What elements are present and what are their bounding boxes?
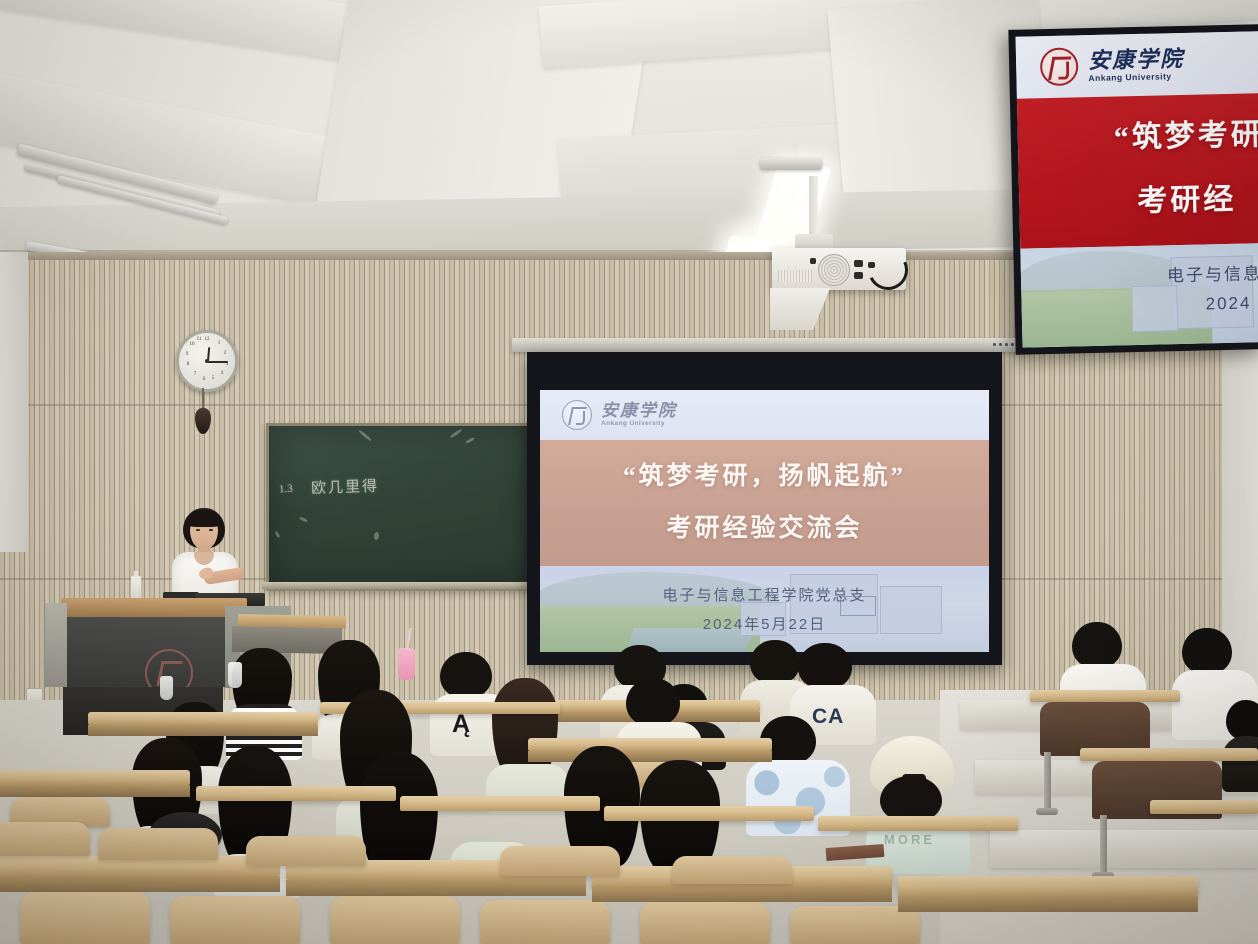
presentation-slide: 安康学院 Ankang University “筑梦考研，扬帆起航” 考研经验交…	[540, 390, 989, 652]
lecture-hall-photo: 12 1 2 3 4 5 6 7 8 9 10 11 1.3 欧几里得	[0, 0, 1258, 944]
person-head	[798, 643, 852, 689]
clock-numeral: 3	[222, 362, 232, 367]
projection-screen: 安康学院 Ankang University “筑梦考研，扬帆起航” 考研经验交…	[527, 352, 1002, 665]
tv-slide-title-line1: “筑梦考研	[1113, 107, 1258, 157]
blackboard: 1.3 欧几里得	[266, 423, 543, 591]
projector-fan-grille	[818, 254, 850, 286]
slide-footer-photo	[540, 566, 989, 652]
clock-minute-hand	[207, 361, 228, 363]
person-head	[1226, 700, 1258, 740]
chair-back	[500, 846, 620, 876]
person-hair	[360, 752, 438, 876]
clock-numeral: 8	[183, 362, 193, 367]
tv-slide-header: 安康学院 Ankang University	[1016, 31, 1258, 99]
tv-slide: 安康学院 Ankang University “筑梦考研 考研经 电子与信息 2…	[1016, 31, 1258, 348]
university-name-cn: 安康学院	[601, 402, 677, 419]
projector-mount-pole	[809, 176, 818, 238]
wall-mounted-tv[interactable]: 安康学院 Ankang University “筑梦考研 考研经 电子与信息 2…	[1008, 24, 1258, 355]
tv-university-logo-text: 安康学院 Ankang University	[1088, 48, 1185, 83]
clock-face: 12 1 2 3 4 5 6 7 8 9 10 11	[176, 330, 238, 392]
chalk-tray	[262, 582, 537, 589]
projection-screen-housing[interactable]	[512, 338, 1022, 352]
slide-date: 2024年5月22日	[540, 613, 989, 634]
clock-numeral: 6	[199, 377, 209, 382]
person-head	[1182, 628, 1232, 674]
person-head	[440, 652, 492, 698]
person-head	[750, 640, 800, 684]
projector-port	[854, 260, 863, 267]
chair-back	[0, 822, 90, 856]
tshirt-logo-icon: Ą	[452, 710, 471, 739]
person-torso	[1222, 736, 1258, 792]
chair-back	[246, 836, 366, 866]
clock-numeral: 7	[190, 372, 200, 377]
tv-university-name-cn: 安康学院	[1088, 48, 1184, 72]
university-logo-text: 安康学院 Ankang University	[601, 402, 677, 428]
tshirt-logo-text: MORE	[884, 832, 935, 847]
projector-port	[854, 272, 863, 279]
clock-numeral: 5	[208, 376, 218, 381]
clock-cord	[202, 388, 204, 410]
slide-header: 安康学院 Ankang University	[540, 390, 989, 440]
lectern-desktop	[61, 598, 247, 617]
floor-step	[990, 830, 1258, 868]
blackboard-number: 1.3	[279, 483, 293, 496]
person-head	[626, 678, 680, 726]
tv-university-name-en: Ankang University	[1088, 72, 1184, 83]
wall-pillar	[0, 252, 28, 552]
blackboard-text: 欧几里得	[311, 475, 380, 498]
clock-numeral: 1	[214, 341, 224, 346]
water-bottle	[160, 676, 173, 700]
tshirt-logo-text: CA	[812, 705, 844, 729]
person-head	[1072, 622, 1122, 668]
slide-title-line2: 考研经验交流会	[540, 508, 989, 544]
university-logo-icon	[1040, 47, 1079, 86]
chair-back	[98, 828, 218, 860]
projector-indicator	[810, 258, 816, 264]
water-bottle	[228, 662, 242, 688]
campus-photo-building	[1131, 285, 1178, 332]
tv-slide-title-line2: 考研经	[1137, 170, 1258, 220]
clock-numeral: 11	[194, 337, 204, 342]
water-bottle	[131, 576, 141, 600]
clock-center-pin	[205, 359, 209, 363]
university-logo-icon	[562, 400, 592, 430]
clock-numeral: 2	[220, 351, 230, 356]
lectern-front-panel	[67, 617, 225, 687]
university-name-en: Ankang University	[601, 421, 677, 428]
lectern-side-panel	[45, 603, 67, 687]
slide-organization: 电子与信息工程学院党总支	[540, 584, 989, 605]
slide-title-line1: “筑梦考研，扬帆起航”	[540, 456, 989, 492]
screen-control-dots	[993, 343, 1014, 346]
chair-back	[672, 856, 792, 884]
projector-vent	[778, 270, 812, 282]
presenter-eye	[209, 529, 213, 531]
drink-cup	[398, 648, 415, 680]
presenter-eye	[196, 529, 200, 531]
tv-slide-date: 2024	[1205, 293, 1251, 314]
clock-numeral: 10	[187, 342, 197, 347]
tv-slide-organization: 电子与信息	[1167, 259, 1258, 286]
clock-numeral: 9	[182, 352, 192, 357]
clock-numeral: 4	[217, 371, 227, 376]
wall-clock: 12 1 2 3 4 5 6 7 8 9 10 11	[176, 330, 238, 392]
